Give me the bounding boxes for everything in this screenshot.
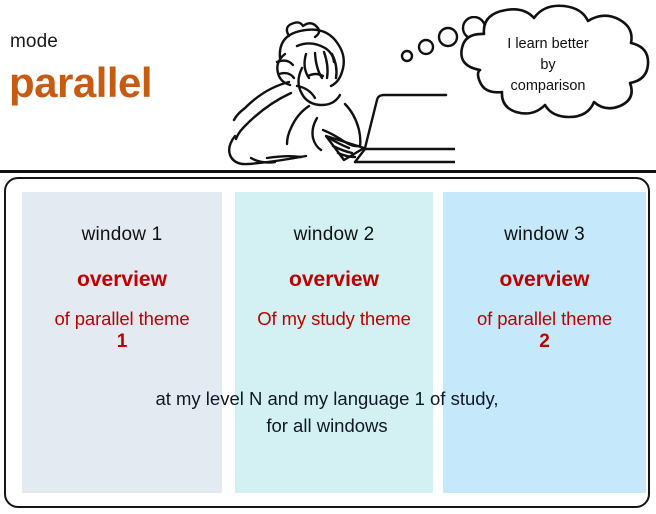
window-2-subtitle-text: Of my study theme [257, 308, 411, 329]
window-panel-2[interactable]: window 2 overview Of my study theme [235, 192, 433, 493]
window-1-subtitle: of parallel theme 1 [22, 307, 222, 354]
window-3-number: 2 [443, 330, 646, 354]
window-3-overview: overview [443, 268, 646, 291]
window-1-subtitle-text: of parallel theme [54, 308, 189, 329]
window-1-overview: overview [22, 268, 222, 291]
window-1-number: 1 [22, 330, 222, 354]
window-1-title: window 1 [22, 225, 222, 246]
window-panel-3[interactable]: window 3 overview of parallel theme 2 [443, 192, 646, 493]
bubble-line-3: comparison [470, 76, 626, 97]
mode-value: parallel [9, 62, 152, 104]
desk-line-icon [0, 170, 656, 173]
window-3-subtitle-text: of parallel theme [477, 308, 612, 329]
window-3-subtitle: of parallel theme 2 [443, 307, 646, 354]
window-panel-1[interactable]: window 1 overview of parallel theme 1 [22, 192, 222, 493]
bubble-line-1: I learn better [470, 34, 626, 55]
window-2-overview: overview [235, 268, 433, 291]
thought-bubble-text: I learn better by comparison [470, 34, 626, 97]
bubble-line-2: by [470, 55, 626, 76]
window-2-title: window 2 [235, 225, 433, 246]
mode-label: mode [10, 32, 58, 51]
window-2-subtitle: Of my study theme [235, 307, 433, 330]
window-3-title: window 3 [443, 225, 646, 246]
